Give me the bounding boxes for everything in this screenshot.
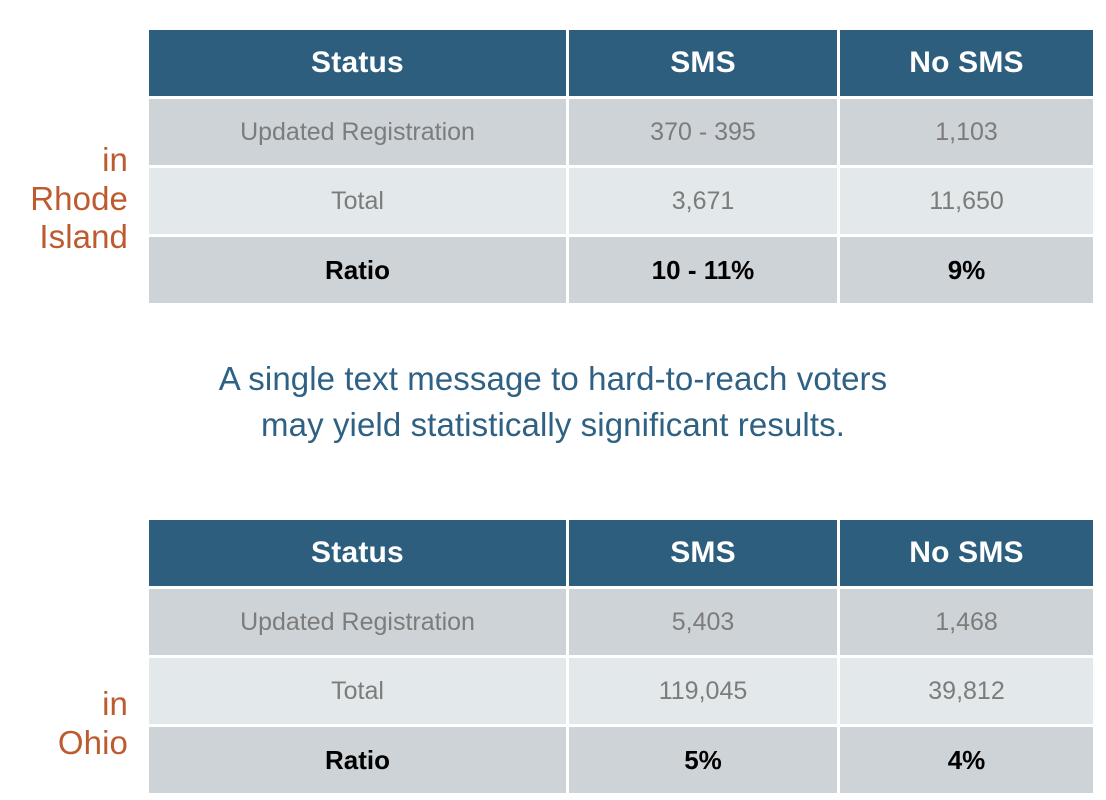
column-header-sms: SMS (569, 520, 837, 586)
cell-no-sms: 4% (840, 727, 1093, 793)
cell-status: Ratio (149, 237, 566, 303)
table-row: Total 3,671 11,650 (149, 168, 1093, 234)
table-ohio: Status SMS No SMS Updated Registration 5… (146, 517, 1096, 796)
cell-status: Ratio (149, 727, 566, 793)
caption-text: A single text message to hard-to-reach v… (0, 356, 1106, 447)
table-header-row: Status SMS No SMS (149, 520, 1093, 586)
table-row: Total 119,045 39,812 (149, 658, 1093, 724)
cell-no-sms: 1,468 (840, 589, 1093, 655)
caption-line-2: may yield statistically significant resu… (0, 402, 1106, 448)
table-row-ratio: Ratio 10 - 11% 9% (149, 237, 1093, 303)
slide-canvas: in Rhode Island Status SMS No SMS Update… (0, 0, 1106, 800)
caption-line-1: A single text message to hard-to-reach v… (0, 356, 1106, 402)
table-row-ratio: Ratio 5% 4% (149, 727, 1093, 793)
table-row: Updated Registration 370 - 395 1,103 (149, 99, 1093, 165)
column-header-sms: SMS (569, 30, 837, 96)
table-rhode-island: Status SMS No SMS Updated Registration 3… (146, 27, 1096, 306)
cell-sms: 370 - 395 (569, 99, 837, 165)
cell-sms: 10 - 11% (569, 237, 837, 303)
cell-no-sms: 1,103 (840, 99, 1093, 165)
cell-sms: 119,045 (569, 658, 837, 724)
column-header-status: Status (149, 520, 566, 586)
cell-sms: 5,403 (569, 589, 837, 655)
cell-sms: 5% (569, 727, 837, 793)
column-header-no-sms: No SMS (840, 520, 1093, 586)
table-header-row: Status SMS No SMS (149, 30, 1093, 96)
column-header-status: Status (149, 30, 566, 96)
cell-status: Updated Registration (149, 99, 566, 165)
state-label-rhode-island: in Rhode Island (0, 141, 128, 257)
state-label-ohio: in Ohio (0, 685, 128, 762)
cell-no-sms: 9% (840, 237, 1093, 303)
cell-status: Total (149, 168, 566, 234)
cell-sms: 3,671 (569, 168, 837, 234)
column-header-no-sms: No SMS (840, 30, 1093, 96)
cell-status: Total (149, 658, 566, 724)
table-row: Updated Registration 5,403 1,468 (149, 589, 1093, 655)
cell-no-sms: 39,812 (840, 658, 1093, 724)
cell-status: Updated Registration (149, 589, 566, 655)
cell-no-sms: 11,650 (840, 168, 1093, 234)
